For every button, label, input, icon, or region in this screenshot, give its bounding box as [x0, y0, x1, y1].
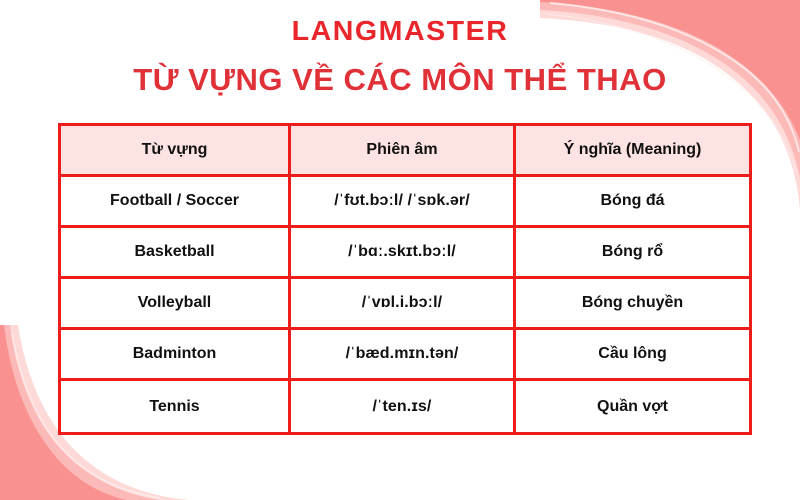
- table-row: Badminton /ˈbæd.mɪn.tən/ Cầu lông: [61, 330, 749, 381]
- cell-meaning: Bóng rổ: [516, 228, 749, 279]
- cell-word: Badminton: [61, 330, 291, 381]
- table-row: Volleyball /ˈvɒl.i.bɔːl/ Bóng chuyền: [61, 279, 749, 330]
- cell-ipa: /ˈten.ɪs/: [291, 381, 516, 432]
- cell-word: Tennis: [61, 381, 291, 432]
- cell-meaning: Bóng chuyền: [516, 279, 749, 330]
- table-row: Basketball /ˈbɑː.skɪt.bɔːl/ Bóng rổ: [61, 228, 749, 279]
- table-header: Từ vựng Phiên âm Ý nghĩa (Meaning): [61, 126, 749, 177]
- cell-meaning: Cầu lông: [516, 330, 749, 381]
- cell-word: Football / Soccer: [61, 177, 291, 228]
- column-header-ipa: Phiên âm: [291, 126, 516, 177]
- cell-ipa: /ˈvɒl.i.bɔːl/: [291, 279, 516, 330]
- page-title: TỪ VỰNG VỀ CÁC MÔN THỂ THAO: [0, 62, 800, 98]
- table-body: Football / Soccer /ˈfʊt.bɔːl/ /ˈsɒk.ər/ …: [61, 177, 749, 432]
- table-header-row: Từ vựng Phiên âm Ý nghĩa (Meaning): [61, 126, 749, 177]
- table-row: Football / Soccer /ˈfʊt.bɔːl/ /ˈsɒk.ər/ …: [61, 177, 749, 228]
- column-header-word: Từ vựng: [61, 126, 291, 177]
- column-header-meaning: Ý nghĩa (Meaning): [516, 126, 749, 177]
- table-row: Tennis /ˈten.ɪs/ Quần vợt: [61, 381, 749, 432]
- vocabulary-table: Từ vựng Phiên âm Ý nghĩa (Meaning) Footb…: [58, 123, 752, 435]
- cell-ipa: /ˈfʊt.bɔːl/ /ˈsɒk.ər/: [291, 177, 516, 228]
- cell-ipa: /ˈbɑː.skɪt.bɔːl/: [291, 228, 516, 279]
- cell-meaning: Bóng đá: [516, 177, 749, 228]
- cell-ipa: /ˈbæd.mɪn.tən/: [291, 330, 516, 381]
- cell-word: Basketball: [61, 228, 291, 279]
- cell-meaning: Quần vợt: [516, 381, 749, 432]
- vocabulary-table-container: Từ vựng Phiên âm Ý nghĩa (Meaning) Footb…: [58, 123, 746, 435]
- brand-logo: LANGMASTER: [0, 15, 800, 47]
- cell-word: Volleyball: [61, 279, 291, 330]
